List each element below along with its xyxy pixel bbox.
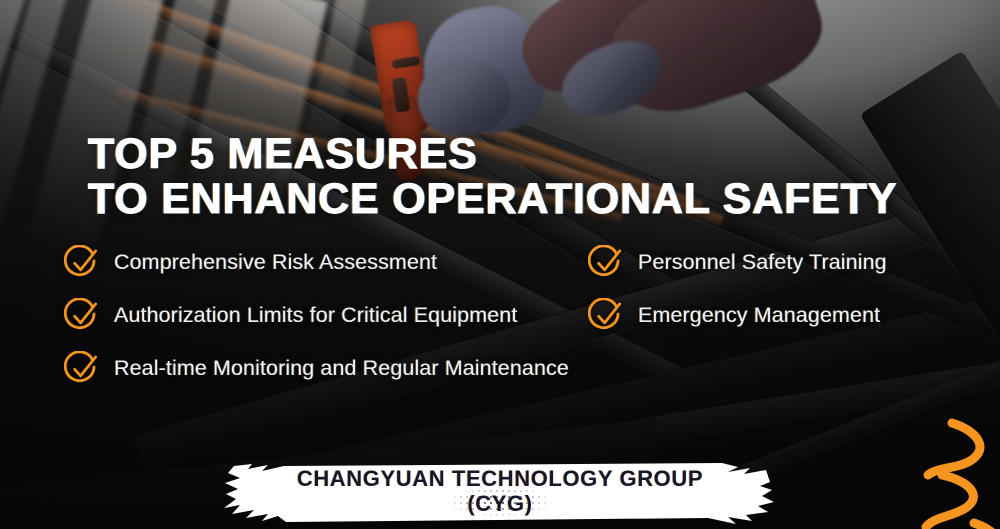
check-circle-icon bbox=[64, 298, 100, 334]
company-name: CHANGYUAN TECHNOLOGY GROUP (CYG) bbox=[222, 466, 778, 516]
measures-column-left: Comprehensive Risk Assessment Authorizat… bbox=[64, 236, 624, 395]
list-item-label: Real-time Monitoring and Regular Mainten… bbox=[114, 356, 569, 381]
check-circle-icon bbox=[588, 245, 624, 281]
list-item: Personnel Safety Training bbox=[588, 236, 958, 289]
company-name-line-2: (CYG) bbox=[222, 491, 778, 516]
measures-column-right: Personnel Safety Training Emergency Mana… bbox=[588, 236, 958, 342]
orange-scribble-icon bbox=[912, 405, 1000, 529]
check-circle-icon bbox=[64, 351, 100, 387]
company-name-line-1: CHANGYUAN TECHNOLOGY GROUP bbox=[222, 466, 778, 491]
list-item: Emergency Management bbox=[588, 289, 958, 342]
list-item-label: Comprehensive Risk Assessment bbox=[114, 250, 437, 275]
list-item-label: Authorization Limits for Critical Equipm… bbox=[114, 303, 517, 328]
check-circle-icon bbox=[64, 245, 100, 281]
list-item: Authorization Limits for Critical Equipm… bbox=[64, 289, 624, 342]
list-item: Comprehensive Risk Assessment bbox=[64, 236, 624, 289]
page-title: TOP 5 MEASURES TO ENHANCE OPERATIONAL SA… bbox=[88, 132, 958, 222]
company-banner: CHANGYUAN TECHNOLOGY GROUP (CYG) bbox=[222, 452, 778, 529]
list-item-label: Personnel Safety Training bbox=[638, 250, 887, 275]
safety-poster: TOP 5 MEASURES TO ENHANCE OPERATIONAL SA… bbox=[0, 0, 1000, 529]
check-circle-icon bbox=[588, 298, 624, 334]
list-item: Real-time Monitoring and Regular Mainten… bbox=[64, 342, 624, 395]
headline-line-2: TO ENHANCE OPERATIONAL SAFETY bbox=[88, 177, 958, 222]
list-item-label: Emergency Management bbox=[638, 303, 880, 328]
headline-line-1: TOP 5 MEASURES bbox=[88, 132, 958, 177]
